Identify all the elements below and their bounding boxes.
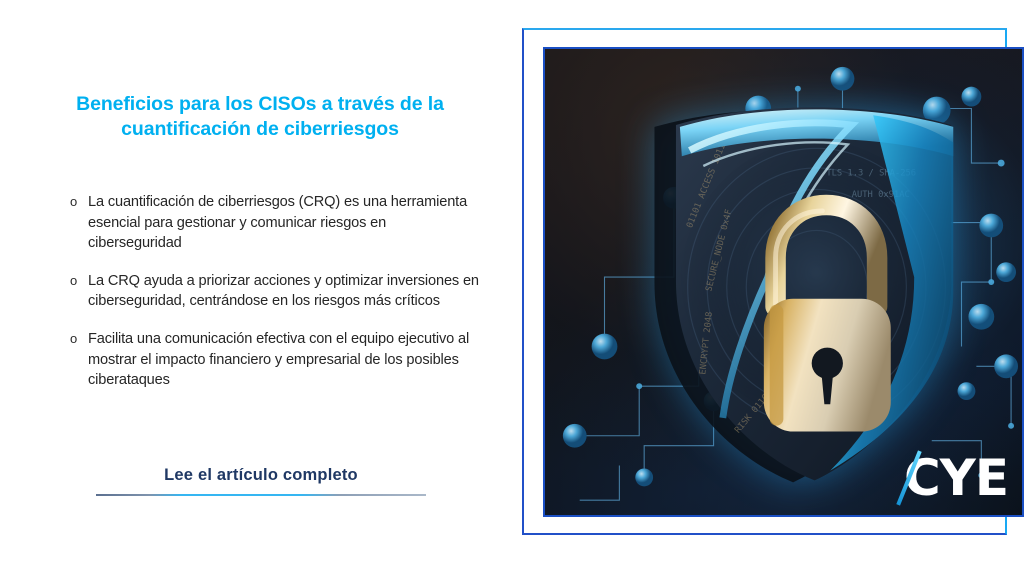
cye-logo: CYE (904, 453, 1008, 503)
artwork-block: 01101 ACCESS 1011 SECURE_NODE 0x4F ENCRY… (518, 20, 1024, 554)
list-item: o Facilita una comunicación efectiva con… (62, 329, 482, 391)
page-title: Beneficios para los CISOs a través de la… (58, 92, 462, 142)
list-item: o La cuantificación de ciberriesgos (CRQ… (62, 192, 482, 254)
bullet-circle-icon: o (62, 192, 88, 213)
shield-icon: 01101 ACCESS 1011 SECURE_NODE 0x4F ENCRY… (621, 82, 1012, 492)
benefits-list: o La cuantificación de ciberriesgos (CRQ… (62, 192, 482, 408)
list-item-label: Facilita una comunicación efectiva con e… (88, 329, 482, 391)
left-content-panel: Beneficios para los CISOs a través de la… (0, 0, 500, 574)
bullet-circle-icon: o (62, 329, 88, 350)
cta-underline-divider (96, 494, 426, 496)
cta-container: Lee el artículo completo (96, 466, 426, 494)
list-item-label: La CRQ ayuda a priorizar acciones y opti… (88, 271, 482, 312)
cye-logo-text: CYE (904, 453, 1008, 503)
slide-root: Beneficios para los CISOs a través de la… (0, 0, 1024, 574)
hero-artwork: 01101 ACCESS 1011 SECURE_NODE 0x4F ENCRY… (543, 47, 1024, 517)
list-item: o La CRQ ayuda a priorizar acciones y op… (62, 271, 482, 312)
list-item-label: La cuantificación de ciberriesgos (CRQ) … (88, 192, 482, 254)
read-full-article-link[interactable]: Lee el artículo completo (164, 466, 358, 494)
bullet-circle-icon: o (62, 271, 88, 292)
